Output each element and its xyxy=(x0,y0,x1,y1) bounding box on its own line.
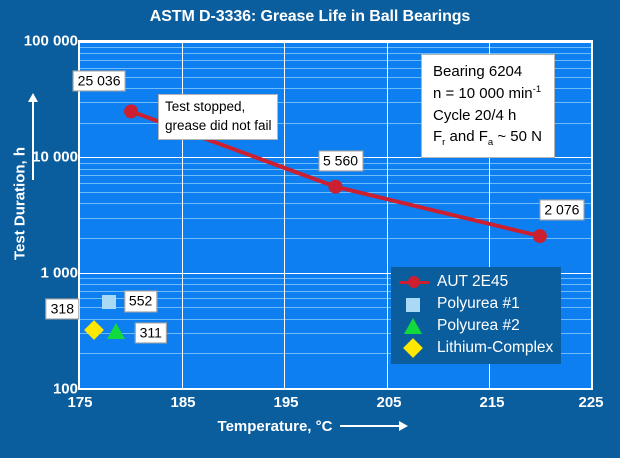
x-tick-label: 175 xyxy=(67,394,92,411)
data-value-label: 552 xyxy=(124,291,157,312)
x-axis-title-wrap: Temperature, °C xyxy=(0,418,620,435)
data-point-marker[interactable] xyxy=(124,104,138,118)
conditions-cycle: Cycle 20/4 h xyxy=(433,105,542,127)
y-tick-label: 1 000 xyxy=(40,265,78,282)
conditions-speed: n = 10 000 min-1 xyxy=(433,83,542,105)
legend-diamond-icon xyxy=(397,338,431,358)
note-line-1: Test stopped, xyxy=(165,98,272,116)
legend-label: Polyurea #2 xyxy=(437,317,520,335)
conditions-speed-exponent: -1 xyxy=(533,84,541,95)
x-tick-label: 225 xyxy=(578,394,603,411)
legend-item-aut-2e45[interactable]: AUT 2E45 xyxy=(397,271,553,293)
x-tick-label: 195 xyxy=(273,394,298,411)
test-conditions-box: Bearing 6204 n = 10 000 min-1 Cycle 20/4… xyxy=(421,54,555,158)
conditions-bearing: Bearing 6204 xyxy=(433,61,542,83)
data-point-marker[interactable] xyxy=(533,229,547,243)
legend-line-circle-icon xyxy=(397,272,431,292)
legend-triangle-icon xyxy=(397,316,431,336)
load-tail: ~ 50 N xyxy=(493,128,542,145)
legend-item-polyurea-2[interactable]: Polyurea #2 xyxy=(397,315,553,337)
gridline-major-horizontal xyxy=(80,388,591,389)
data-value-label: 5 560 xyxy=(318,150,363,171)
data-value-label: 2 076 xyxy=(539,200,584,221)
load-mid: and F xyxy=(445,128,488,145)
legend-label: AUT 2E45 xyxy=(437,273,508,291)
chart-root: ASTM D-3336: Grease Life in Ball Bearing… xyxy=(0,0,620,458)
legend-label: Polyurea #1 xyxy=(437,295,520,313)
legend-item-polyurea-1[interactable]: Polyurea #1 xyxy=(397,293,553,315)
conditions-load: Fr and Fa ~ 50 N xyxy=(433,126,542,150)
test-stopped-note: Test stopped, grease did not fail xyxy=(158,94,278,139)
data-point-marker[interactable] xyxy=(107,323,125,339)
chart-legend: AUT 2E45 Polyurea #1 Polyurea #2 Lithium… xyxy=(391,267,561,364)
legend-item-lithium-complex[interactable]: Lithium-Complex xyxy=(397,337,553,359)
conditions-speed-text: n = 10 000 min xyxy=(433,85,533,102)
load-f1: F xyxy=(433,128,442,145)
x-tick-label: 205 xyxy=(376,394,401,411)
legend-label: Lithium-Complex xyxy=(437,339,553,357)
legend-square-icon xyxy=(397,294,431,314)
x-axis-title: Temperature, °C xyxy=(218,418,333,435)
data-point-marker[interactable] xyxy=(102,295,116,309)
data-value-label: 25 036 xyxy=(73,71,126,92)
x-axis-arrow-icon xyxy=(340,425,402,427)
x-tick-label: 185 xyxy=(170,394,195,411)
data-point-marker[interactable] xyxy=(329,180,343,194)
y-tick-label: 100 000 xyxy=(24,33,78,50)
data-value-label: 318 xyxy=(46,299,79,320)
y-tick-label: 10 000 xyxy=(32,149,78,166)
x-tick-label: 215 xyxy=(479,394,504,411)
note-line-2: grease did not fail xyxy=(165,117,272,135)
data-value-label: 311 xyxy=(135,323,167,344)
